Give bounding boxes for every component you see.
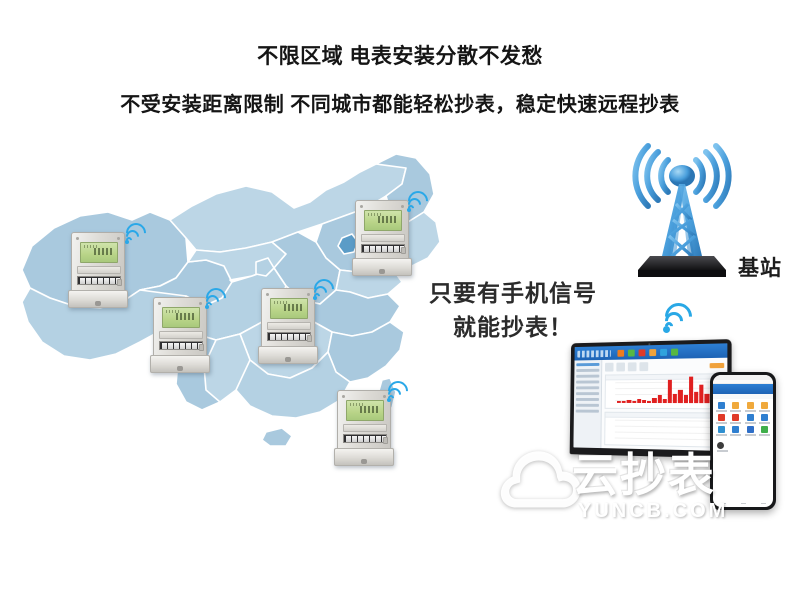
app-header [713, 384, 773, 394]
meter-case [355, 200, 409, 264]
app-tile[interactable] [730, 402, 743, 412]
mail-icon[interactable] [717, 442, 724, 449]
app-tile[interactable] [759, 402, 772, 412]
bar-chart [617, 376, 720, 403]
page-title: 不限区域 电表安装分散不发愁 [0, 40, 800, 70]
nav-icon-4[interactable] [649, 349, 656, 356]
meter-digit-register [159, 341, 203, 350]
sidebar-item[interactable] [576, 404, 599, 407]
meter-lcd-display [364, 210, 402, 231]
wifi-icon [661, 303, 699, 333]
meter-digit-register [77, 276, 121, 285]
wifi-signal-icon [406, 190, 432, 212]
app-tile[interactable] [744, 426, 757, 436]
home-indicator [713, 503, 773, 505]
dashboard-main [601, 358, 727, 451]
sidebar-item[interactable] [576, 375, 599, 378]
meter-case [337, 390, 391, 454]
meter-lcd-display [270, 298, 308, 319]
toolbar-button[interactable] [639, 362, 648, 371]
dashboard-body [573, 358, 727, 451]
slogan: 只要有手机信号 就能抄表！ [408, 276, 618, 344]
dashboard-nav[interactable] [617, 348, 678, 356]
electricity-meter [352, 200, 414, 278]
meter-terminal-cover [258, 346, 318, 364]
cell-tower-icon [628, 138, 736, 286]
dashboard-screen [573, 343, 727, 451]
dashboard-toolbar[interactable] [605, 361, 724, 372]
meter-screw [76, 237, 79, 240]
promo-banner: 不限区域 电表安装分散不发愁 不受安装距离限制 不同城市都能轻松抄表，稳定快速远… [0, 0, 800, 600]
brand-url: YUNCB.COM [578, 500, 728, 523]
status-badge [710, 363, 725, 368]
meter-band [77, 266, 121, 274]
nav-icon-6[interactable] [671, 348, 678, 355]
slogan-line-1: 只要有手机信号 [408, 276, 618, 310]
nav-icon-3[interactable] [639, 349, 646, 356]
electricity-meter [150, 297, 212, 375]
app-tile[interactable] [759, 414, 772, 424]
app-tile[interactable] [715, 426, 728, 436]
meter-lcd-display [80, 242, 118, 263]
chart-gridlines [615, 419, 721, 442]
dashboard-logo [577, 350, 611, 357]
mobile-device [710, 372, 776, 510]
app-tile[interactable] [730, 426, 743, 436]
meter-digit-register [267, 332, 311, 341]
app-icon-grid[interactable] [713, 399, 773, 439]
app-tile[interactable] [715, 402, 728, 412]
chart-title-bar [605, 412, 723, 418]
meter-lcd-display [346, 400, 384, 421]
app-tile[interactable] [744, 402, 757, 412]
mobile-app-screen [713, 375, 773, 507]
slogan-line-2: 就能抄表！ [408, 310, 618, 344]
app-tile-extra[interactable] [713, 439, 773, 455]
toolbar-button[interactable] [628, 362, 637, 371]
nav-icon-2[interactable] [628, 349, 635, 356]
meter-terminal-cover [352, 258, 412, 276]
meter-terminal-cover [150, 355, 210, 373]
meter-terminal-cover [334, 448, 394, 466]
dashboard-sidebar[interactable] [573, 360, 602, 448]
sidebar-item[interactable] [576, 386, 599, 389]
wifi-signal-icon [386, 380, 412, 402]
page-subtitle: 不受安装距离限制 不同城市都能轻松抄表，稳定快速远程抄表 [0, 88, 800, 117]
electricity-meter [258, 288, 320, 366]
sidebar-item[interactable] [576, 410, 599, 413]
meter-case [261, 288, 315, 352]
meter-terminal-cover [68, 290, 128, 308]
meter-digit-register [343, 434, 387, 443]
sidebar-item[interactable] [576, 380, 599, 383]
meter-digit-register [361, 244, 405, 253]
nav-icon-1[interactable] [617, 349, 624, 356]
sidebar-item[interactable] [576, 363, 599, 366]
app-tile[interactable] [744, 414, 757, 424]
wifi-signal-icon [124, 222, 150, 244]
electricity-meter [68, 232, 130, 310]
base-station-label: 基站 [738, 252, 782, 282]
wifi-signal-icon [204, 287, 230, 309]
sidebar-item[interactable] [576, 398, 599, 401]
chart-panel-secondary [604, 411, 724, 448]
meter-case [71, 232, 125, 296]
meter-case [153, 297, 207, 361]
sidebar-item[interactable] [576, 392, 599, 395]
app-tile[interactable] [715, 414, 728, 424]
toolbar-button[interactable] [616, 363, 625, 372]
wifi-signal-icon [312, 278, 338, 300]
app-tile[interactable] [759, 426, 772, 436]
meter-lcd-display [162, 307, 200, 328]
sidebar-item[interactable] [576, 369, 599, 372]
nav-icon-5[interactable] [660, 348, 667, 355]
laptop-lid [570, 339, 732, 458]
cloud-icon [500, 448, 584, 510]
toolbar-button[interactable] [605, 363, 614, 372]
chart-panel [605, 373, 725, 409]
laptop-device [570, 339, 732, 458]
meter-port [117, 279, 122, 286]
app-tile[interactable] [730, 414, 743, 424]
meter-screw [117, 237, 120, 240]
